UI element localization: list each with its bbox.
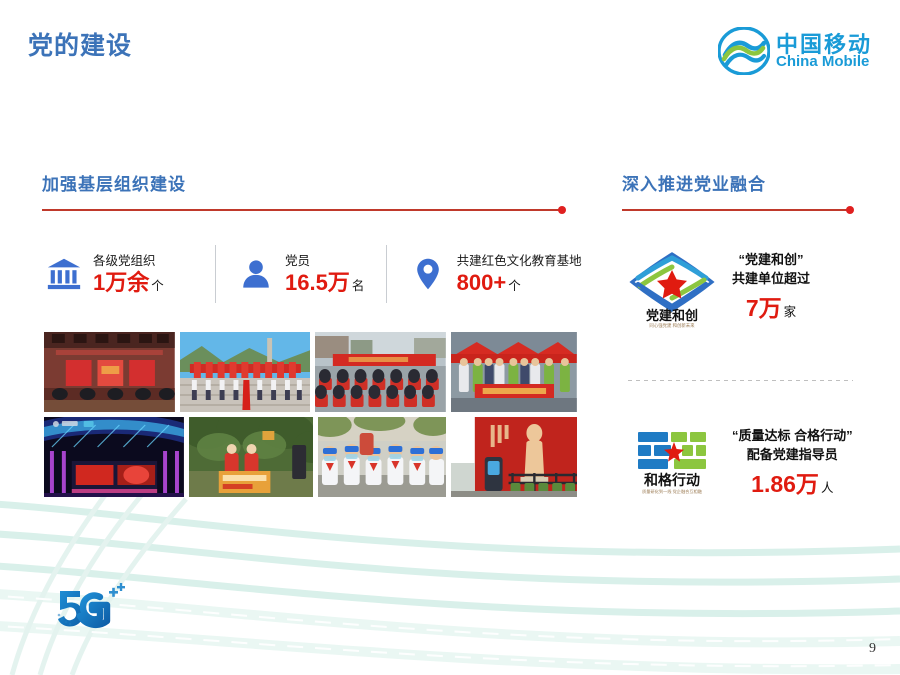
section-header-right: 深入推进党业融合 [622,170,766,214]
photo-outdoor-assembly[interactable] [315,332,446,412]
china-mobile-swoosh-icon [718,27,770,75]
section-title-right: 深入推进党业融合 [622,170,766,195]
rule-bar [42,209,562,211]
photo-row [44,417,577,497]
section-title-left: 加强基层组织建设 [42,170,186,195]
card-line-2: 共建单位超过 [732,270,810,289]
svg-text:质量研化到一线 党企融合互相融: 质量研化到一线 党企融合互相融 [642,488,703,495]
photo-row [44,332,577,412]
initiative-card-hegexingdong: 和格行动 质量研化到一线 党企融合互相融 “质量达标 合格行动” 配备党建指导员… [626,424,853,504]
stat-value: 800+个 [457,272,582,294]
card-text-block: “党建和创” 共建单位超过 7万家 [732,251,810,325]
photo-gallery [44,332,577,502]
stat-item-education-bases: 共建红色文化教育基地 800+个 [408,243,589,305]
card-unit: 人 [821,481,834,495]
5g-plus-plus-logo-icon [52,583,128,631]
photo-stage-studio[interactable] [44,417,184,497]
stat-caption: 党员 [285,254,364,270]
card-divider-dashed [628,380,853,381]
svg-text:同心强党建 和创新未来: 同心强党建 和创新未来 [649,322,695,328]
stat-unit: 名 [352,279,365,293]
stat-unit: 个 [508,279,521,293]
dangjianhechuang-logo-icon: 党建和创 同心强党建 和创新未来 [626,248,718,328]
rule-end-dot [558,206,566,214]
stat-value: 16.5万名 [285,272,364,294]
page-number: 9 [869,641,876,657]
svg-text:党建和创: 党建和创 [646,308,698,323]
stat-item-party-organizations: 各级党组织 1万余个 [44,243,194,305]
card-line-1: “党建和创” [739,251,804,270]
stat-caption: 共建红色文化教育基地 [457,254,582,270]
photo-students-vr[interactable] [318,417,446,497]
svg-text:和格行动: 和格行动 [644,472,700,488]
photo-orchard-helpdesk[interactable] [189,417,313,497]
photo-volunteer-team[interactable] [451,332,577,412]
section-header-left: 加强基层组织建设 [42,170,186,214]
hegexingdong-logo-icon: 和格行动 质量研化到一线 党企融合互相融 [626,424,718,504]
card-unit: 家 [784,305,797,319]
card-text-block: “质量达标 合格行动” 配备党建指导员 1.86万人 [732,427,853,501]
rule-bar [622,209,850,211]
slide-root: 党的建设 中国移动 China Mobile 加强基层组织建设 深入推进党业融合 [0,0,900,675]
stat-item-party-members: 党员 16.5万名 [236,243,369,305]
section-rule-right [622,206,766,214]
stats-row: 各级党组织 1万余个 党员 16.5万名 [44,243,589,305]
location-icon [408,253,448,295]
stat-value: 1万余个 [93,272,164,294]
initiative-card-dangjianhechuang: 党建和创 同心强党建 和创新未来 “党建和创” 共建单位超过 7万家 [626,248,810,328]
card-value: 7万家 [746,292,796,325]
china-mobile-logo: 中国移动 China Mobile [718,27,878,79]
stat-caption: 各级党组织 [93,254,164,270]
card-value: 1.86万人 [751,468,833,501]
photo-statue-exhibit[interactable] [451,417,577,497]
page-title: 党的建设 [28,26,132,62]
stat-unit: 个 [151,279,164,293]
photo-flag-ceremony[interactable] [180,332,311,412]
bank-icon [44,253,84,295]
decorative-swoosh-background [0,475,900,675]
card-line-1: “质量达标 合格行动” [732,427,853,446]
card-line-2: 配备党建指导员 [747,446,838,465]
photo-conference-hall[interactable] [44,332,175,412]
person-icon [236,253,276,295]
brand-name-en: China Mobile [776,53,869,70]
rule-end-dot [846,206,854,214]
section-rule-left [42,206,186,214]
